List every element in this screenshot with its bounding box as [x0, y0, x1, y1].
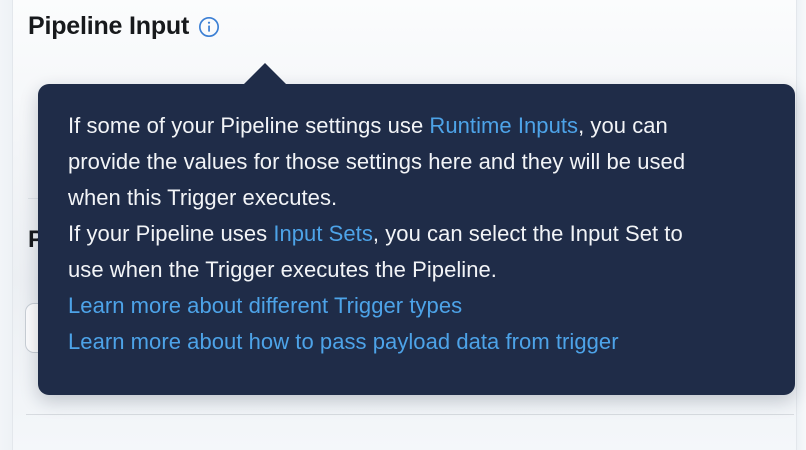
learn-more-payload-data-link[interactable]: Learn more about how to pass payload dat… — [68, 324, 795, 360]
tooltip-paragraph1-line1: If some of your Pipeline settings use Ru… — [68, 108, 795, 144]
tooltip-paragraph1-line3: when this Trigger executes. — [68, 180, 795, 216]
section-divider-bottom — [26, 414, 794, 415]
runtime-inputs-link[interactable]: Runtime Inputs — [429, 113, 578, 138]
pipeline-input-tooltip: If some of your Pipeline settings use Ru… — [38, 84, 795, 395]
learn-more-trigger-types-link[interactable]: Learn more about different Trigger types — [68, 288, 795, 324]
info-circle-icon[interactable] — [198, 16, 220, 38]
page-title: Pipeline Input — [28, 12, 189, 41]
tooltip-arrow — [243, 63, 287, 85]
tooltip-text-segment: If your Pipeline uses — [68, 221, 273, 246]
tooltip-paragraph2-line1: If your Pipeline uses Input Sets, you ca… — [68, 216, 795, 252]
tooltip-text-segment: , you can select the Input Set to — [373, 221, 683, 246]
app-screen: P Pipeline Input If some of your Pipelin… — [0, 0, 806, 450]
tooltip-text-segment: If some of your Pipeline settings use — [68, 113, 429, 138]
tooltip-paragraph2-line2: use when the Trigger executes the Pipeli… — [68, 252, 795, 288]
tooltip-text-segment: , you can — [578, 113, 668, 138]
pipeline-input-header: Pipeline Input — [28, 12, 220, 41]
right-gutter — [797, 0, 806, 450]
left-gutter — [0, 0, 12, 450]
tooltip-paragraph1-line2: provide the values for those settings he… — [68, 144, 795, 180]
input-sets-link[interactable]: Input Sets — [273, 221, 373, 246]
